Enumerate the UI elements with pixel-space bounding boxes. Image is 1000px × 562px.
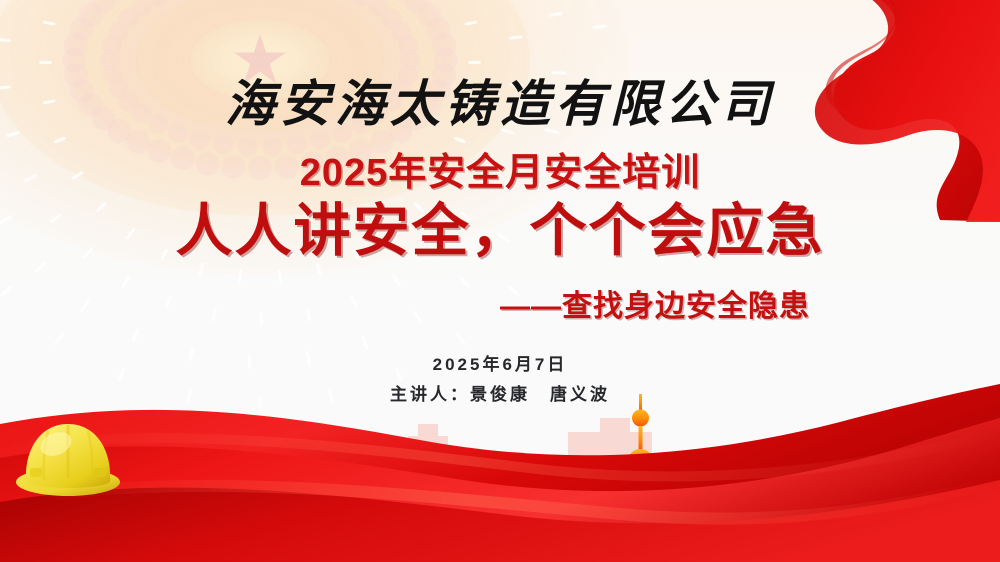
presentation-slide: 海安海太铸造有限公司 2025年安全月安全培训 人人讲安全，个个会应急 ——查找… [0,0,1000,562]
training-subtitle: 2025年安全月安全培训 [0,154,1000,192]
slide-text-layer: 海安海太铸造有限公司 2025年安全月安全培训 人人讲安全，个个会应急 ——查找… [0,0,1000,562]
main-slogan: 人人讲安全，个个会应急 [0,203,1000,260]
presentation-date: 2025年6月7日 [0,356,1000,373]
company-name: 海安海太铸造有限公司 [0,79,1000,129]
tagline: ——查找身边安全隐患 [500,292,810,322]
speaker-line: 主讲人：景俊康 唐义波 [0,386,1000,403]
